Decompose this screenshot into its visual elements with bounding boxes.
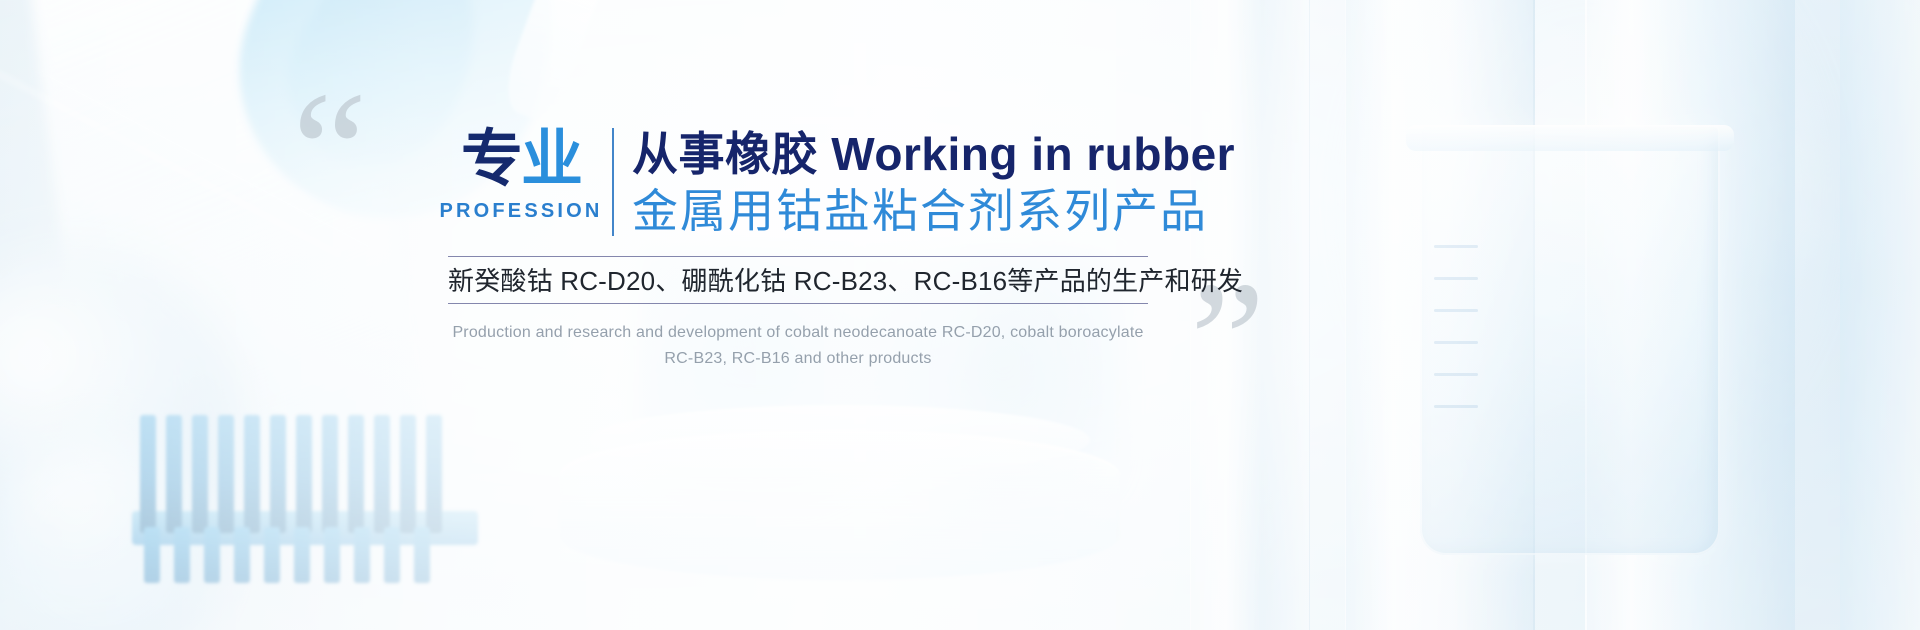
decorative-open-quote-icon: “ [292, 66, 367, 236]
headline-block: 从事橡胶 Working in rubber 金属用钴盐粘合剂系列产品 [632, 126, 1235, 240]
english-caption: Production and research and development … [440, 320, 1156, 372]
promotional-banner: “ ” 专业 PROFESSION 从事橡胶 Working in rubber… [0, 0, 1920, 630]
subtitle-rule-bottom [448, 303, 1148, 304]
headline-primary: 从事橡胶 Working in rubber [632, 126, 1235, 182]
logo-divider [612, 128, 614, 236]
banner-content: “ ” 专业 PROFESSION 从事橡胶 Working in rubber… [0, 0, 1920, 630]
profession-logo: 专业 PROFESSION [447, 128, 595, 238]
english-caption-line-1: Production and research and development … [440, 320, 1156, 346]
subtitle-text: 新癸酸钴 RC-D20、硼酰化钴 RC-B23、RC-B16等产品的生产和研发 [448, 262, 1148, 300]
headline-secondary: 金属用钴盐粘合剂系列产品 [632, 182, 1235, 240]
logo-english-text: PROFESSION [439, 200, 602, 223]
english-caption-line-2: RC-B23, RC-B16 and other products [440, 346, 1156, 372]
logo-char-zhuan: 专 [461, 125, 521, 194]
subtitle-rule-top [448, 256, 1148, 257]
logo-chinese-text: 专业 [461, 128, 581, 192]
logo-char-ye: 业 [521, 125, 581, 194]
